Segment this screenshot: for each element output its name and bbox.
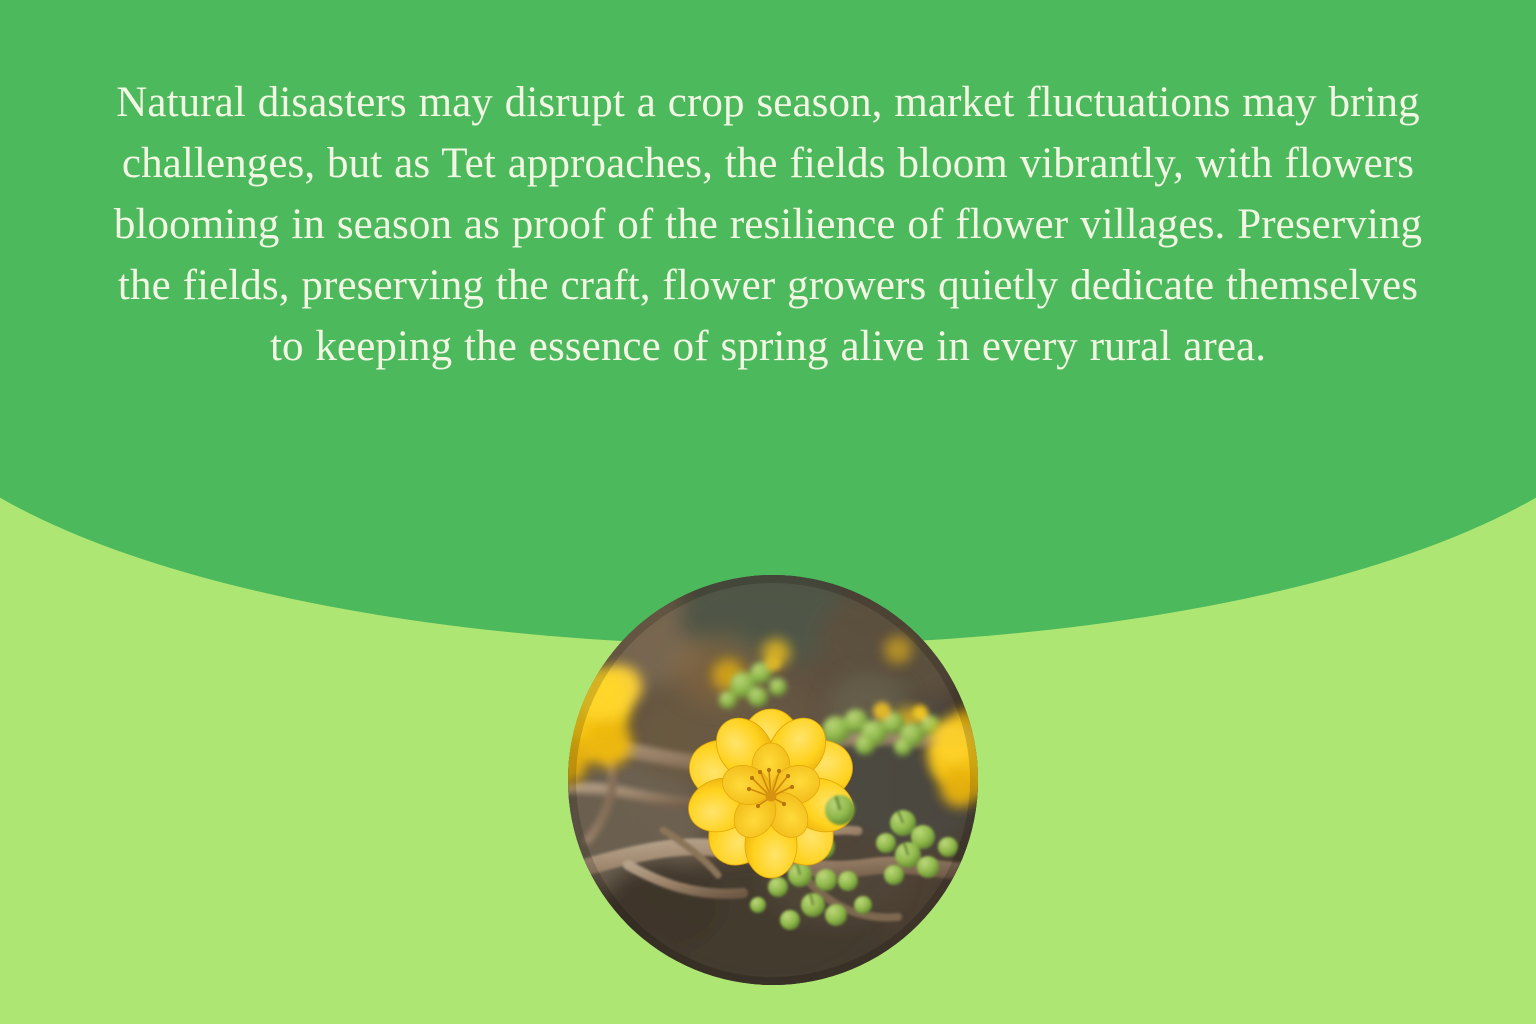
slide-canvas: Natural disasters may disrupt a crop sea… [0, 0, 1536, 1024]
yellow-apricot-blossom-photo [568, 575, 978, 985]
quote-paragraph: Natural disasters may disrupt a crop sea… [108, 72, 1428, 377]
quote-block: Natural disasters may disrupt a crop sea… [0, 72, 1536, 377]
